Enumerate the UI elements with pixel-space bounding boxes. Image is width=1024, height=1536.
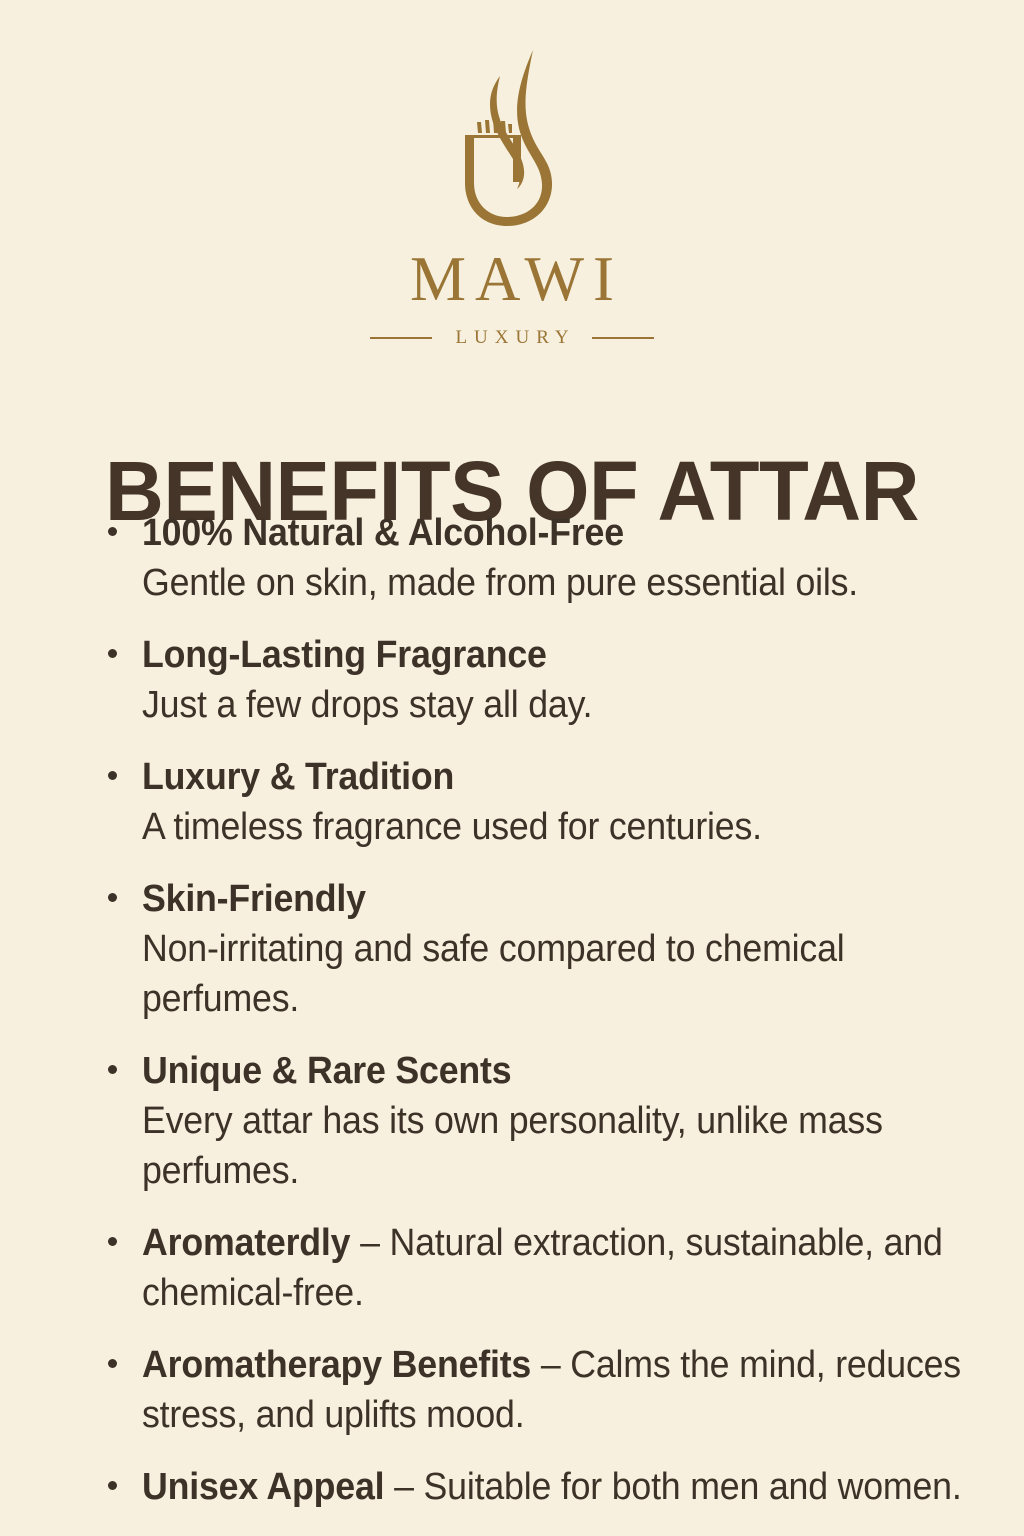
bullet-dot-icon: [108, 1481, 117, 1490]
benefit-description: Gentle on skin, made from pure essential…: [142, 558, 983, 608]
tagline-rule-left: [370, 337, 432, 339]
benefit-description: Non-irritating and safe compared to chem…: [142, 924, 983, 1024]
benefit-description: Every attar has its own personality, unl…: [142, 1096, 983, 1196]
brand-logo-block: MAWI LUXURY: [0, 42, 1024, 349]
benefit-text: Unique & Rare ScentsEvery attar has its …: [142, 1046, 983, 1196]
benefits-list: 100% Natural & Alcohol-FreeGentle on ski…: [96, 508, 986, 1512]
benefit-heading: Skin-Friendly: [142, 878, 366, 920]
benefit-item: Aromatherapy Benefits – Calms the mind, …: [96, 1340, 986, 1440]
bullet-dot-icon: [108, 771, 117, 780]
benefit-description: – Suitable for both men and women.: [384, 1466, 961, 1508]
benefit-text: 100% Natural & Alcohol-FreeGentle on ski…: [142, 508, 983, 608]
bullet-dot-icon: [108, 1065, 117, 1074]
brand-tagline-row: LUXURY: [370, 327, 653, 349]
benefit-heading: Aromaterdly: [142, 1222, 350, 1264]
poster-canvas: MAWI LUXURY BENEFITS OF ATTAR 100% Natur…: [0, 0, 1024, 1536]
benefit-description: Just a few drops stay all day.: [142, 680, 983, 730]
benefit-item: Long-Lasting FragranceJust a few drops s…: [96, 630, 986, 730]
benefit-item: Aromaterdly – Natural extraction, sustai…: [96, 1218, 986, 1318]
brand-tagline: LUXURY: [448, 327, 575, 349]
benefit-text: Unisex Appeal – Suitable for both men an…: [142, 1462, 983, 1512]
benefit-text: Long-Lasting FragranceJust a few drops s…: [142, 630, 983, 730]
benefit-heading: Unisex Appeal: [142, 1466, 384, 1508]
benefit-text: Aromatherapy Benefits – Calms the mind, …: [142, 1340, 983, 1440]
bullet-dot-icon: [108, 893, 117, 902]
benefit-description: A timeless fragrance used for centuries.: [142, 802, 983, 852]
benefit-item: Unisex Appeal – Suitable for both men an…: [96, 1462, 986, 1512]
perfume-bottle-smoke-icon: [437, 42, 587, 242]
benefit-item: Unique & Rare ScentsEvery attar has its …: [96, 1046, 986, 1196]
benefit-heading: Luxury & Tradition: [142, 756, 454, 798]
benefit-heading: Aromatherapy Benefits: [142, 1344, 531, 1386]
benefit-text: Luxury & TraditionA timeless fragrance u…: [142, 752, 983, 852]
bullet-dot-icon: [108, 1237, 117, 1246]
bullet-dot-icon: [108, 1359, 117, 1368]
benefit-heading: Long-Lasting Fragrance: [142, 634, 547, 676]
benefit-item: Skin-FriendlyNon-irritating and safe com…: [96, 874, 986, 1024]
bullet-dot-icon: [108, 527, 117, 536]
benefit-item: Luxury & TraditionA timeless fragrance u…: [96, 752, 986, 852]
benefit-item: 100% Natural & Alcohol-FreeGentle on ski…: [96, 508, 986, 608]
benefit-text: Aromaterdly – Natural extraction, sustai…: [142, 1218, 983, 1318]
benefit-text: Skin-FriendlyNon-irritating and safe com…: [142, 874, 983, 1024]
brand-name: MAWI: [401, 248, 623, 311]
tagline-rule-right: [592, 337, 654, 339]
benefit-heading: Unique & Rare Scents: [142, 1050, 511, 1092]
benefit-heading: 100% Natural & Alcohol-Free: [142, 512, 624, 554]
bullet-dot-icon: [108, 649, 117, 658]
